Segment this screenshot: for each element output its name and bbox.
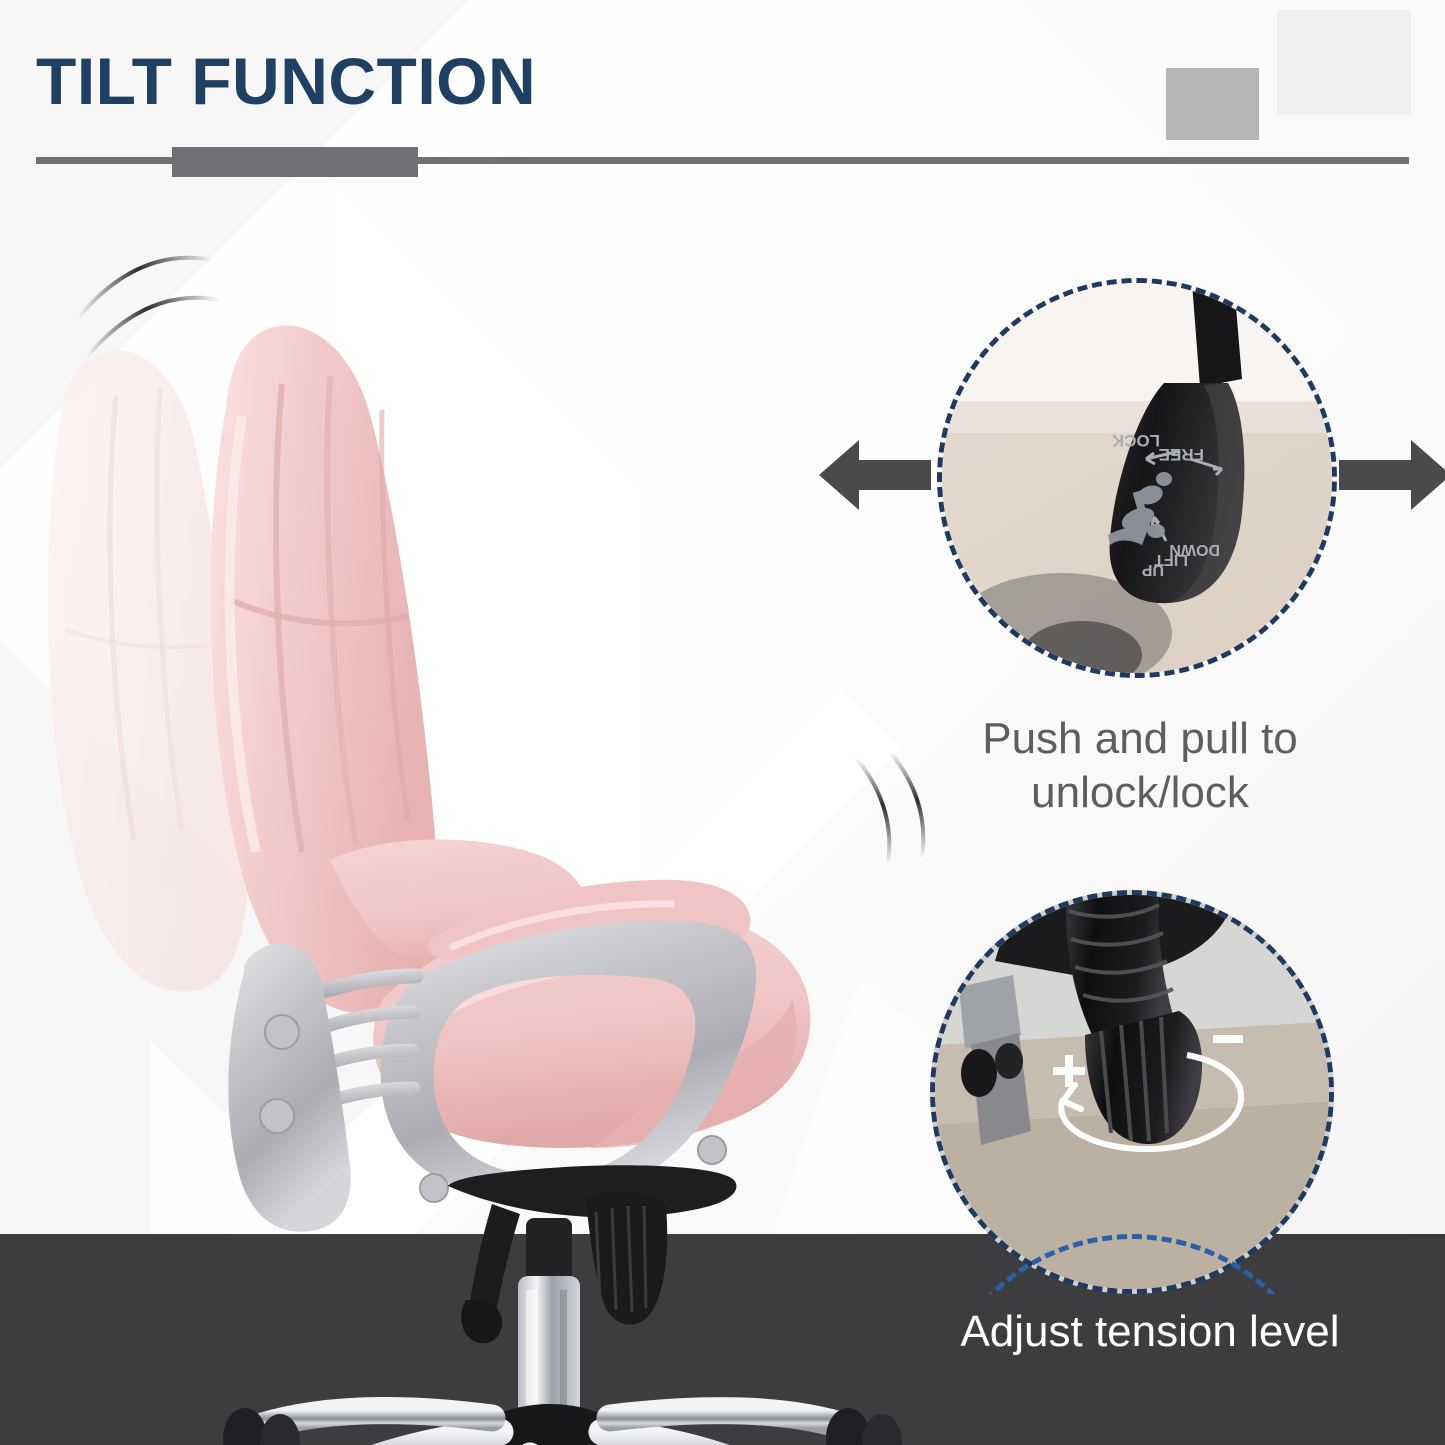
chair-tension-knob: [586, 1192, 667, 1325]
chair-caster-rear-right: [826, 1408, 902, 1445]
office-chair-illustration: [30, 300, 930, 1445]
callout-tension-knob-ring: [930, 890, 1334, 1294]
lever-label-down: DOWN: [1169, 541, 1220, 558]
tension-knob-photo: [935, 895, 1334, 1294]
chair-tilt-lever: [461, 1204, 520, 1343]
callout-tilt-lever-caption: Push and pull to unlock/lock: [905, 712, 1375, 819]
infographic-canvas: TILT FUNCTION: [0, 0, 1445, 1445]
callout-tilt-lever-ring: LOCK FREE UP LIFT DOWN: [937, 278, 1337, 678]
callout-tension-knob: [930, 890, 1334, 1294]
arrow-left-icon: [815, 430, 935, 520]
arrow-right-icon: [1335, 430, 1445, 520]
lever-label-lock: LOCK: [1111, 431, 1160, 450]
callout-tilt-lever: LOCK FREE UP LIFT DOWN: [937, 278, 1337, 678]
page-title: TILT FUNCTION: [36, 48, 536, 114]
chair-gas-lift: [518, 1218, 580, 1432]
decor-square-gray: [1166, 68, 1259, 140]
decor-square-light: [1277, 10, 1411, 115]
callout-tension-knob-caption: Adjust tension level: [900, 1305, 1400, 1359]
tilt-lever-photo: LOCK FREE UP LIFT DOWN: [942, 283, 1337, 678]
header-rule-accent: [172, 147, 418, 177]
